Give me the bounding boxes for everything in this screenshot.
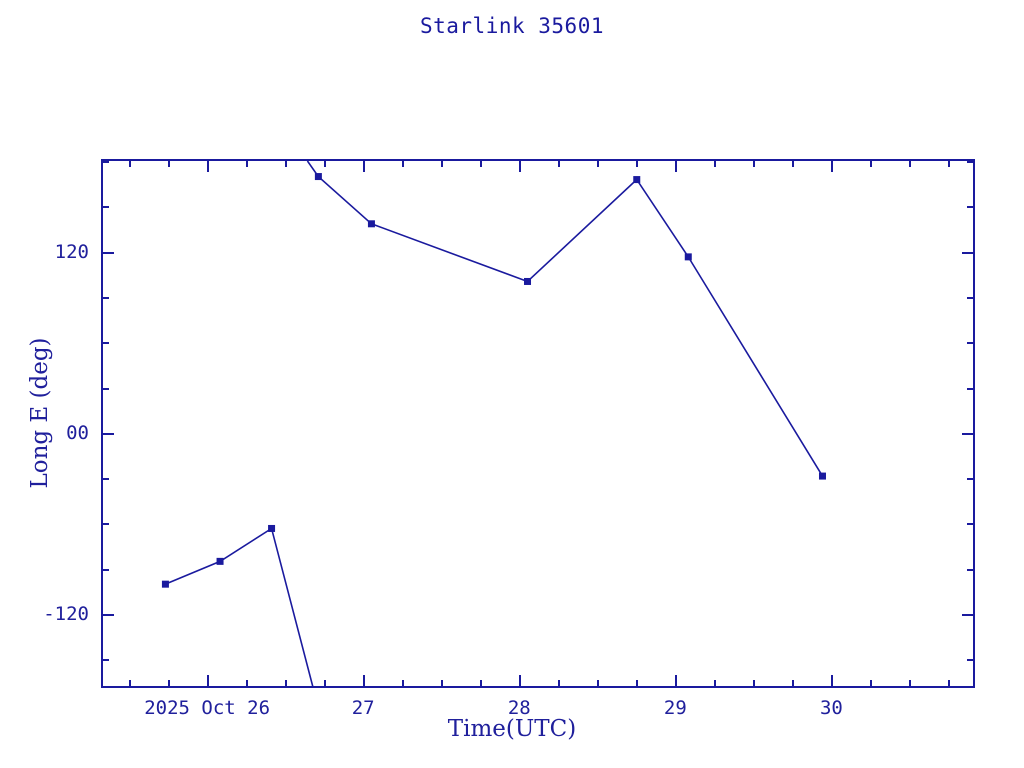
x-minor-tick-top: [168, 159, 170, 167]
x-minor-tick-top: [480, 159, 482, 167]
x-minor-tick: [636, 680, 638, 688]
x-major-tick: [363, 675, 365, 688]
y-minor-tick-right: [967, 161, 975, 163]
x-major-tick: [207, 675, 209, 688]
y-major-tick-right: [962, 433, 975, 435]
plot-frame: [101, 159, 975, 688]
y-minor-tick: [101, 569, 109, 571]
x-minor-tick-top: [129, 159, 131, 167]
series-line: [165, 528, 313, 688]
data-point-marker: [819, 473, 826, 480]
x-minor-tick: [714, 680, 716, 688]
x-minor-tick: [558, 680, 560, 688]
data-point-marker: [633, 176, 640, 183]
y-minor-tick-right: [967, 478, 975, 480]
x-minor-tick: [597, 680, 599, 688]
x-minor-tick: [480, 680, 482, 688]
x-major-tick: [675, 675, 677, 688]
x-minor-tick-top: [285, 159, 287, 167]
x-minor-tick-top: [246, 159, 248, 167]
y-minor-tick-right: [967, 297, 975, 299]
y-minor-tick-right: [967, 523, 975, 525]
chart-canvas: Starlink 35601 2025 Oct 2627282930 12000…: [0, 0, 1024, 768]
y-minor-tick-right: [967, 569, 975, 571]
x-major-tick: [519, 675, 521, 688]
x-minor-tick-top: [558, 159, 560, 167]
y-minor-tick: [101, 659, 109, 661]
y-major-tick-right: [962, 614, 975, 616]
x-major-tick-top: [675, 159, 677, 172]
y-major-tick: [101, 433, 114, 435]
plot-series-svg: [103, 161, 975, 688]
x-minor-tick-top: [714, 159, 716, 167]
y-minor-tick: [101, 388, 109, 390]
y-minor-tick: [101, 342, 109, 344]
x-minor-tick-top: [870, 159, 872, 167]
y-major-tick: [101, 614, 114, 616]
data-point-marker: [162, 581, 169, 588]
y-major-tick-right: [962, 252, 975, 254]
y-axis-title: Long E (deg): [27, 293, 53, 533]
x-minor-tick: [792, 680, 794, 688]
x-minor-tick: [909, 680, 911, 688]
x-axis-title: Time(UTC): [0, 716, 1024, 742]
data-point-marker: [368, 220, 375, 227]
x-minor-tick: [129, 680, 131, 688]
y-major-tick: [101, 252, 114, 254]
x-minor-tick: [285, 680, 287, 688]
data-point-marker: [685, 253, 692, 260]
y-tick-label: 120: [0, 241, 89, 263]
x-minor-tick: [870, 680, 872, 688]
x-minor-tick: [753, 680, 755, 688]
y-minor-tick: [101, 206, 109, 208]
x-minor-tick-top: [402, 159, 404, 167]
x-major-tick-top: [519, 159, 521, 172]
x-major-tick: [831, 675, 833, 688]
y-minor-tick: [101, 297, 109, 299]
x-minor-tick: [402, 680, 404, 688]
x-minor-tick-top: [636, 159, 638, 167]
x-minor-tick: [168, 680, 170, 688]
x-major-tick-top: [363, 159, 365, 172]
chart-title: Starlink 35601: [0, 14, 1024, 38]
y-minor-tick: [101, 161, 109, 163]
y-minor-tick-right: [967, 342, 975, 344]
x-major-tick-top: [831, 159, 833, 172]
data-point-marker: [217, 558, 224, 565]
x-minor-tick: [441, 680, 443, 688]
y-minor-tick-right: [967, 206, 975, 208]
series-line: [307, 161, 822, 476]
x-minor-tick: [948, 680, 950, 688]
x-minor-tick: [324, 680, 326, 688]
x-minor-tick-top: [909, 159, 911, 167]
x-minor-tick-top: [948, 159, 950, 167]
y-minor-tick-right: [967, 659, 975, 661]
x-minor-tick-top: [441, 159, 443, 167]
y-minor-tick-right: [967, 388, 975, 390]
x-minor-tick-top: [753, 159, 755, 167]
x-minor-tick-top: [324, 159, 326, 167]
x-major-tick-top: [207, 159, 209, 172]
y-minor-tick: [101, 478, 109, 480]
x-minor-tick: [246, 680, 248, 688]
x-minor-tick-top: [597, 159, 599, 167]
data-point-marker: [524, 278, 531, 285]
y-tick-label: -120: [0, 603, 89, 625]
x-minor-tick-top: [792, 159, 794, 167]
data-point-marker: [268, 525, 275, 532]
data-point-marker: [315, 173, 322, 180]
y-minor-tick: [101, 523, 109, 525]
